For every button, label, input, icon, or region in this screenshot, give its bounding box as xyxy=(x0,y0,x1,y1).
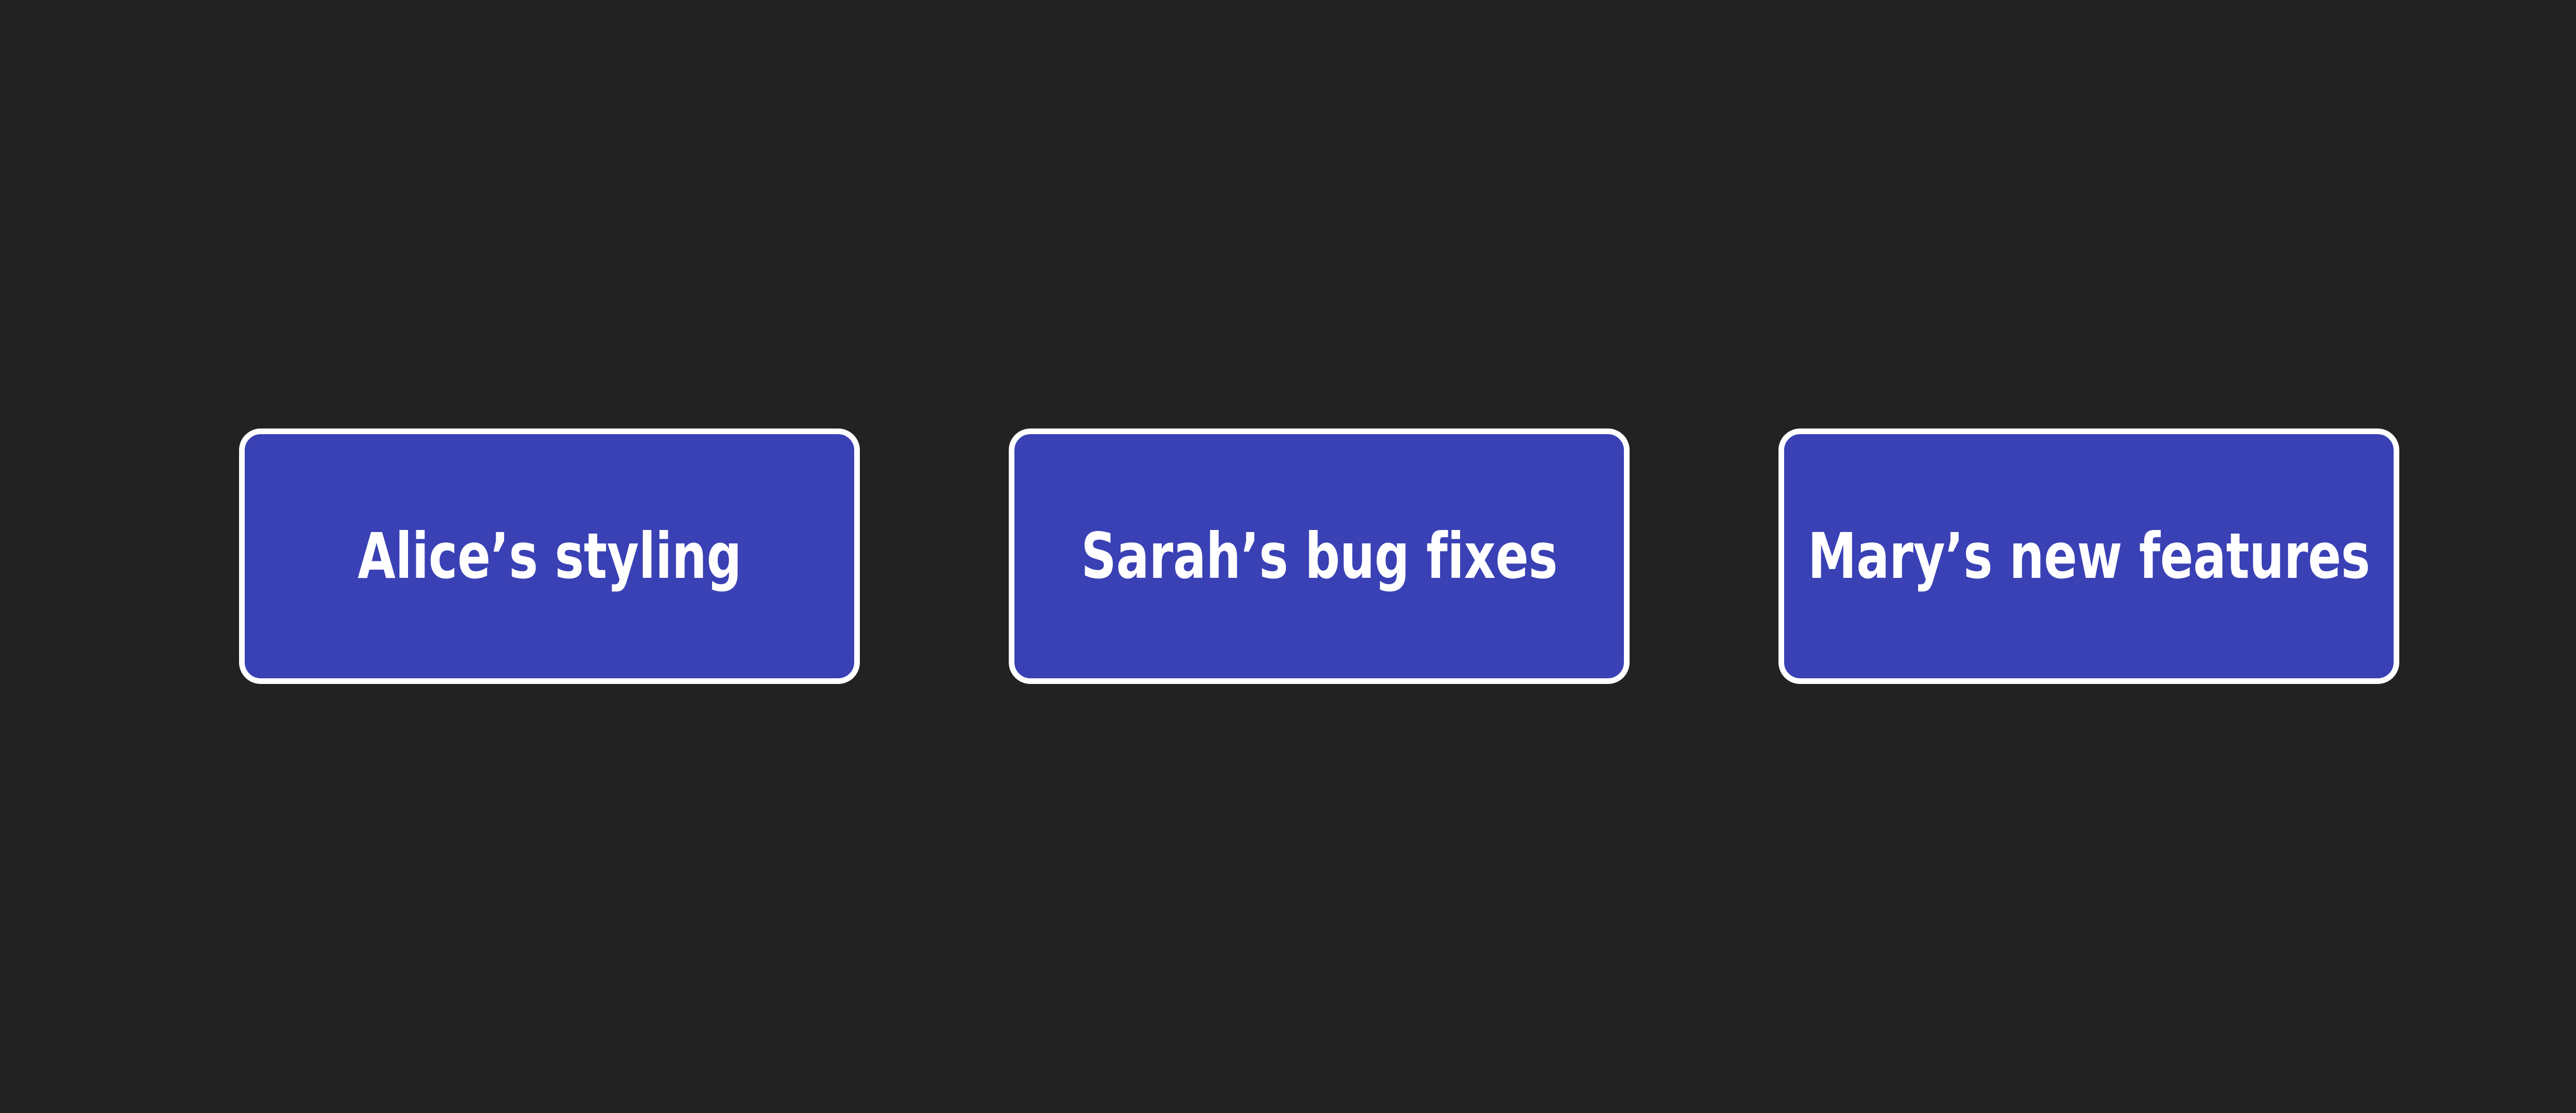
card-label: Sarah’s bug fixes xyxy=(1081,523,1557,589)
card-row: Alice’s styling Sarah’s bug fixes Mary’s… xyxy=(0,429,2576,684)
card-label: Mary’s new features xyxy=(1808,523,2370,589)
card-sarahs-bug-fixes[interactable]: Sarah’s bug fixes xyxy=(1009,429,1630,684)
page-canvas: Alice’s styling Sarah’s bug fixes Mary’s… xyxy=(0,0,2576,1113)
card-marys-new-features[interactable]: Mary’s new features xyxy=(1778,429,2399,684)
card-label: Alice’s styling xyxy=(358,523,741,589)
card-alices-styling[interactable]: Alice’s styling xyxy=(239,429,860,684)
